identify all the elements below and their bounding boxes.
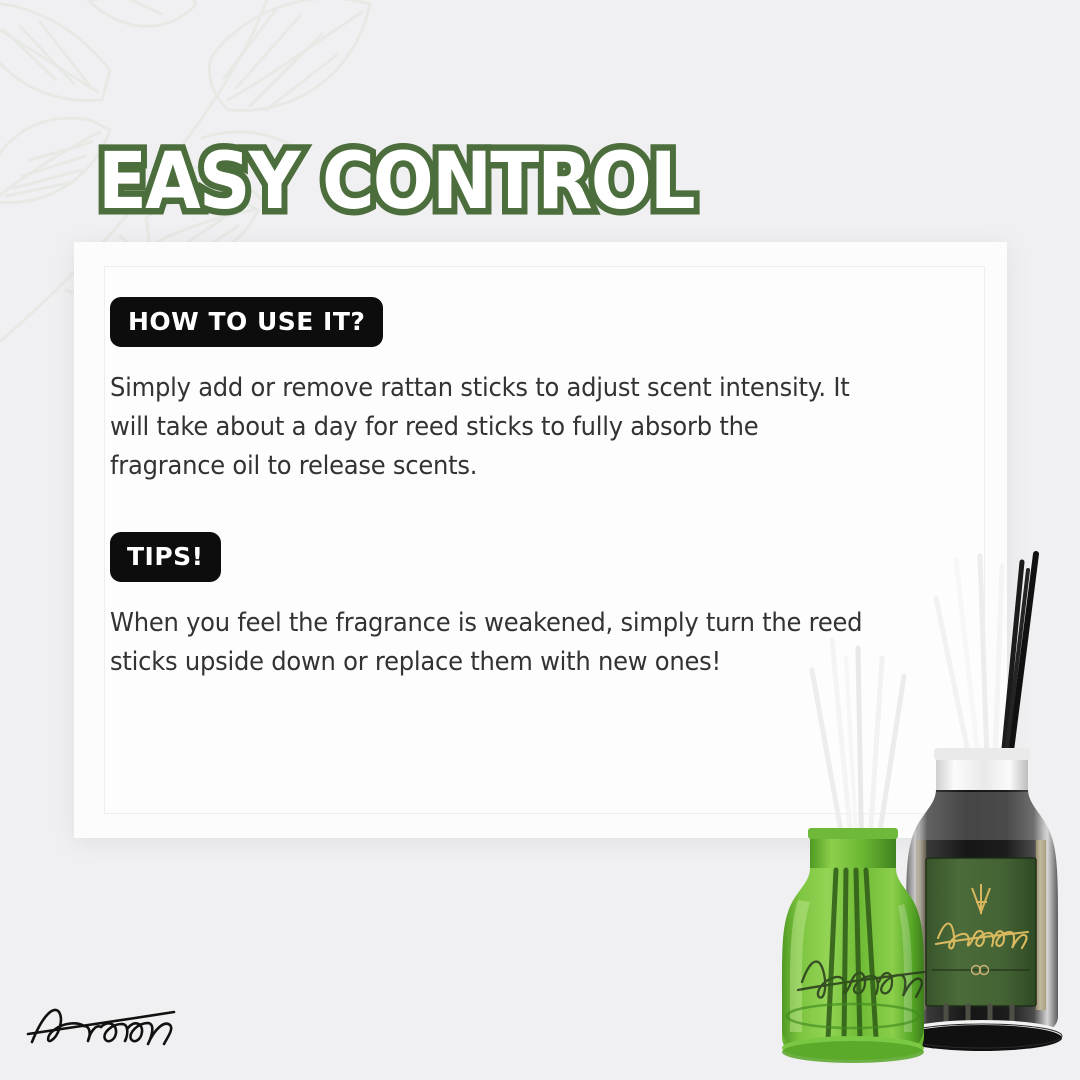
tips-badge: TIPS!: [110, 532, 221, 582]
label-ornament-icon: [972, 966, 989, 975]
dark-bottle-label: [926, 858, 1036, 1006]
poster-canvas: EASY CONTROL HOW TO USE IT? Simply add o…: [0, 0, 1080, 1080]
green-diffuser-bottle: [782, 828, 924, 1063]
how-to-use-text: Simply add or remove rattan sticks to ad…: [110, 369, 870, 486]
brand-logo: [22, 994, 182, 1056]
how-to-use-badge: HOW TO USE IT?: [110, 297, 383, 347]
content-body: HOW TO USE IT? Simply add or remove ratt…: [110, 297, 930, 682]
page-title: EASY CONTROL: [98, 136, 746, 228]
dark-bottle-script: [936, 924, 1028, 949]
page-title-text: EASY CONTROL: [98, 142, 694, 222]
tips-text: When you feel the fragrance is weakened,…: [110, 604, 870, 682]
how-to-use-block: HOW TO USE IT? Simply add or remove ratt…: [110, 297, 930, 486]
brand-monogram-icon: [972, 884, 990, 914]
green-bottle-script: [798, 962, 924, 998]
tips-block: TIPS! When you feel the fragrance is wea…: [110, 532, 930, 682]
